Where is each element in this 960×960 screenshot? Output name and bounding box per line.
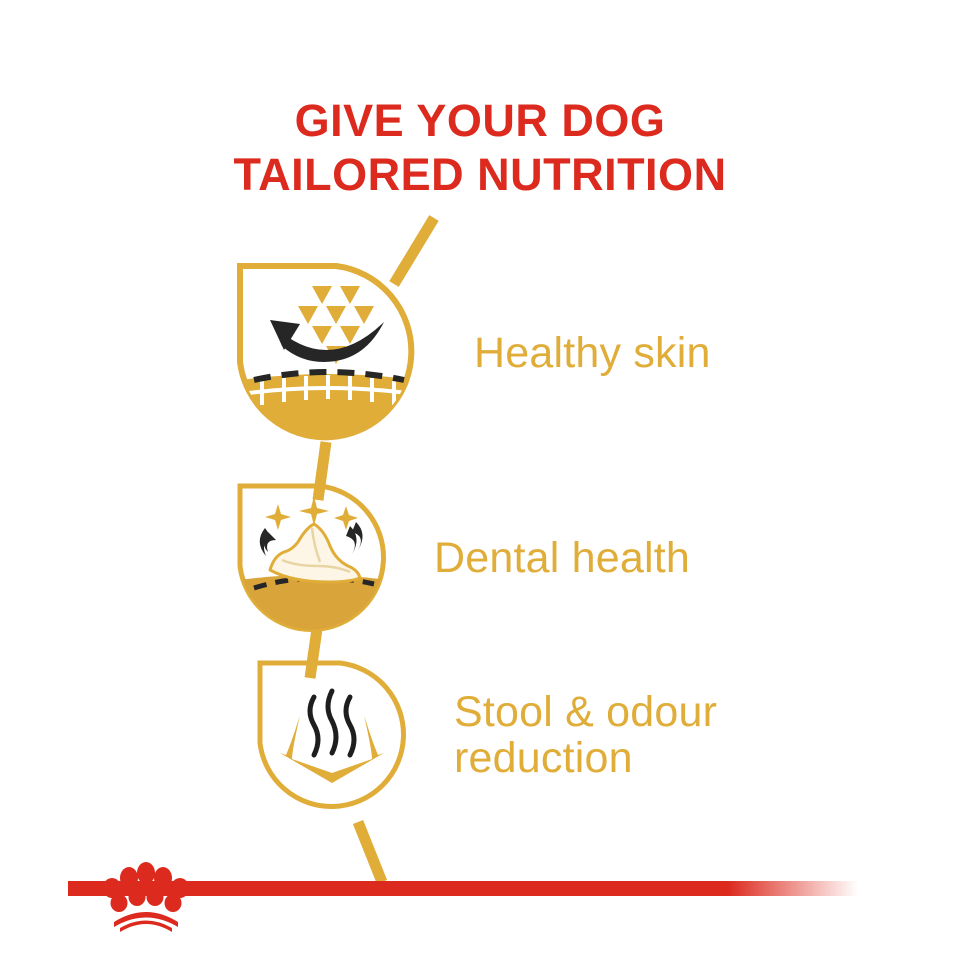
odour-arrow-shield-icon — [252, 655, 412, 815]
promo-canvas: GIVE YOUR DOG TAILORED NUTRITION — [0, 0, 960, 960]
tooth-shield-icon — [232, 478, 392, 638]
headline-line-1: GIVE YOUR DOG — [0, 98, 960, 143]
benefit-label-stool-odour: Stool & odour reduction — [454, 689, 717, 782]
page-title: GIVE YOUR DOG TAILORED NUTRITION — [0, 98, 960, 197]
skin-barrier-shield-icon — [232, 258, 422, 448]
benefit-label-healthy-skin: Healthy skin — [474, 330, 711, 376]
royal-canin-crown-icon — [100, 858, 192, 932]
benefit-row-stool-odour: Stool & odour reduction — [252, 655, 717, 815]
headline-line-2: TAILORED NUTRITION — [0, 152, 960, 197]
benefit-row-dental-health: Dental health — [232, 478, 690, 638]
benefit-row-healthy-skin: Healthy skin — [232, 258, 711, 448]
benefit-label-dental-health: Dental health — [434, 535, 690, 581]
